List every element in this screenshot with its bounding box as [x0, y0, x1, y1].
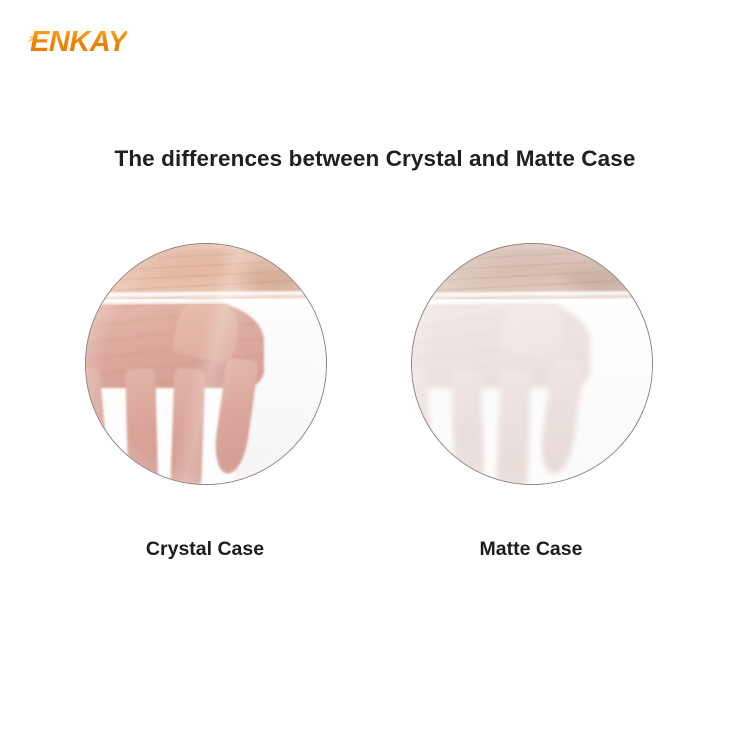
frosted-haze-overlay	[412, 244, 652, 484]
crystal-case-caption: Crystal Case	[85, 538, 325, 561]
page-title: The differences between Crystal and Matt…	[0, 146, 750, 172]
matte-case-photo	[411, 243, 653, 485]
brand-logo: ENKAY	[30, 28, 127, 57]
matte-scene	[412, 244, 652, 484]
comparison-section	[0, 243, 750, 485]
product-comparison-page: { "brand": { "name": "ENKAY", "logo_colo…	[0, 0, 750, 750]
glass-sheen	[86, 244, 326, 484]
crystal-case-photo	[85, 243, 327, 485]
crystal-scene	[86, 244, 326, 484]
matte-case-caption: Matte Case	[411, 538, 651, 561]
